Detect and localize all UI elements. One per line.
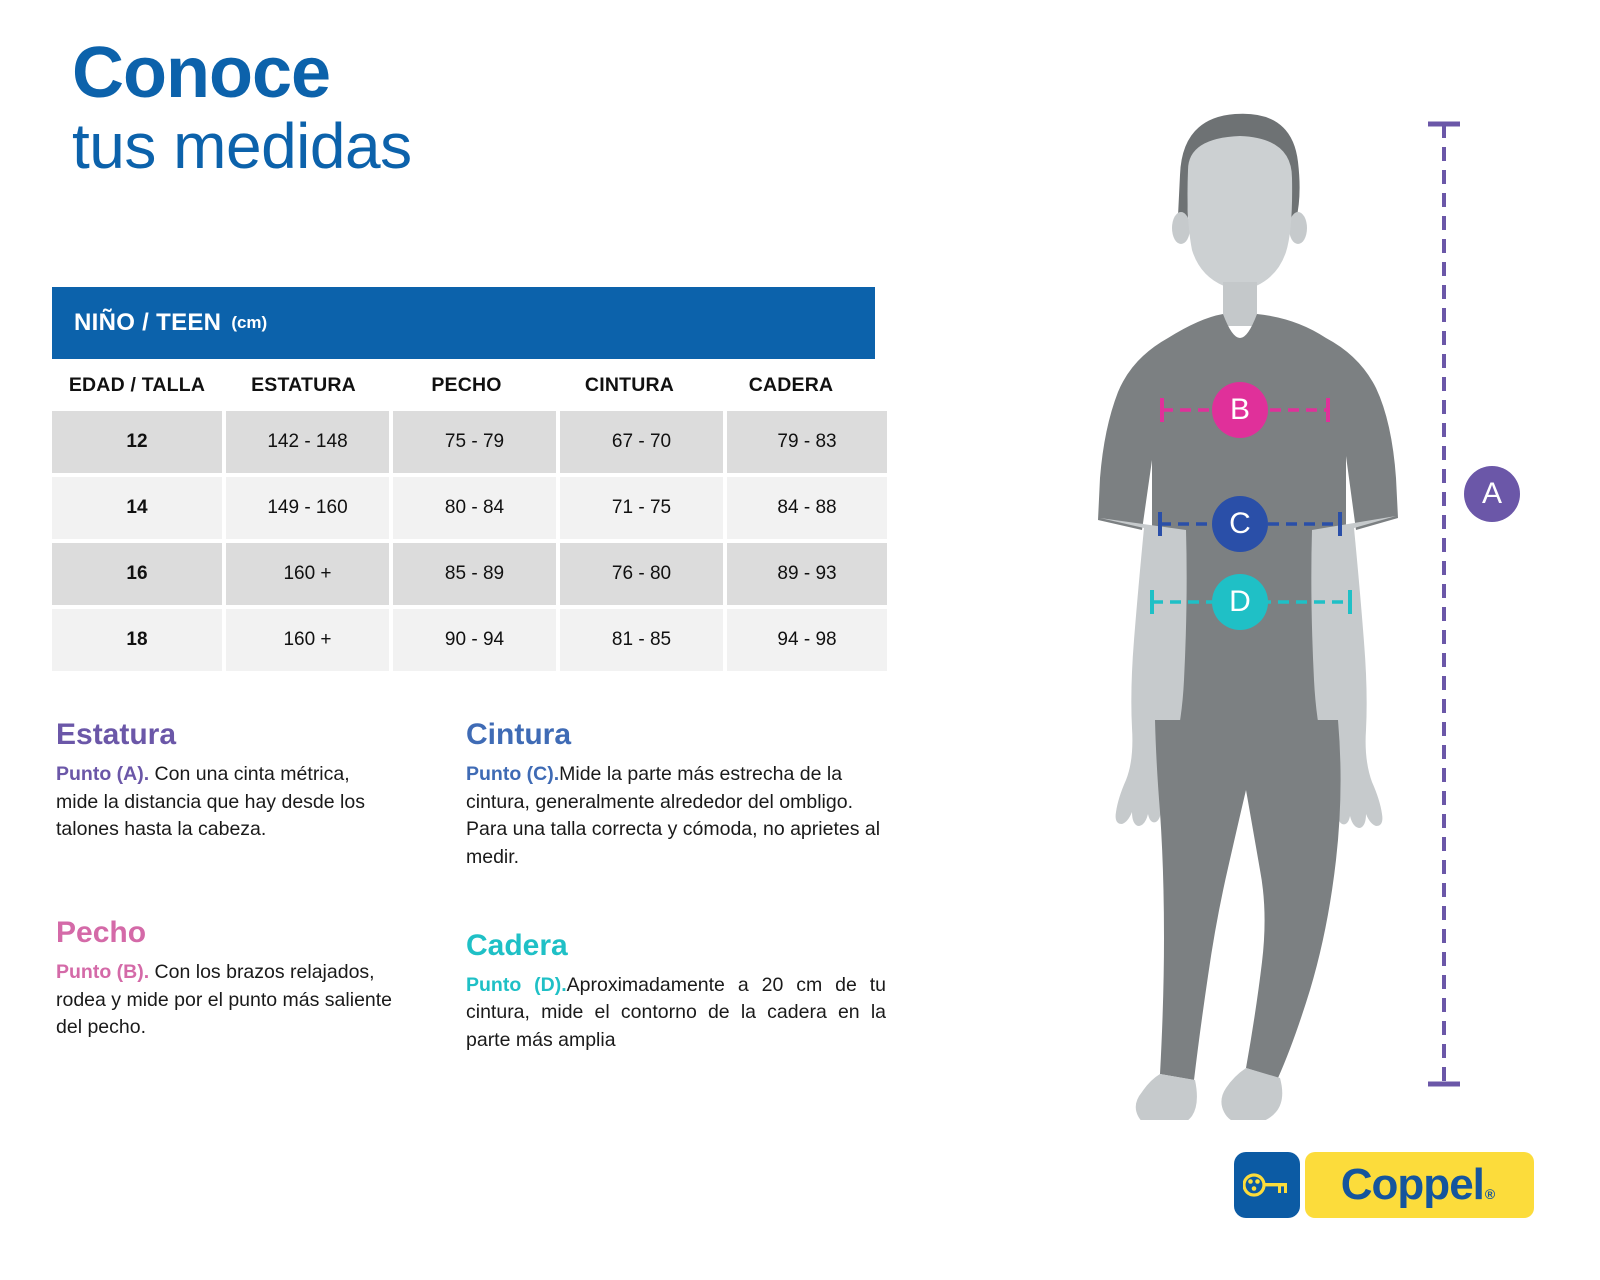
description-heading-cintura: Cintura [466, 718, 886, 751]
description-column-right: Cintura Punto (C).Mide la parte más estr… [466, 718, 886, 1095]
table-row: 18 160 + 90 - 94 81 - 85 94 - 98 [52, 609, 875, 671]
cell-cadera: 89 - 93 [727, 543, 887, 605]
marker-label-a: A [1482, 477, 1502, 511]
ear-left [1172, 212, 1190, 244]
title-line-2: tus medidas [72, 111, 412, 181]
cell-pecho: 80 - 84 [393, 477, 556, 539]
description-lead-cintura: Punto (C). [466, 763, 559, 785]
marker-label-d: D [1229, 585, 1251, 619]
marker-label-b: B [1230, 393, 1250, 427]
table-row: 16 160 + 85 - 89 76 - 80 89 - 93 [52, 543, 875, 605]
cell-estatura: 160 + [226, 543, 389, 605]
description-lead-cadera: Punto (D). [466, 974, 567, 996]
description-lead-estatura: Punto (A). [56, 763, 149, 785]
cell-cintura: 67 - 70 [560, 411, 723, 473]
body-figure-illustration: B C D A [1060, 100, 1580, 1120]
description-pecho: Pecho Punto (B). Con los brazos relajado… [56, 916, 396, 1042]
description-text-cintura: Punto (C).Mide la parte más estrecha de … [466, 761, 886, 872]
logo-key-badge [1234, 1152, 1300, 1218]
table-row: 12 142 - 148 75 - 79 67 - 70 79 - 83 [52, 411, 875, 473]
foot-back [1136, 1074, 1197, 1120]
description-cintura: Cintura Punto (C).Mide la parte más estr… [466, 718, 886, 872]
logo-brand-text: Coppel [1341, 1160, 1484, 1209]
cell-cadera: 94 - 98 [727, 609, 887, 671]
cell-cadera: 84 - 88 [727, 477, 887, 539]
description-text-cadera: Punto (D).Aproximadamente a 20 cm de tu … [466, 972, 886, 1055]
description-text-estatura: Punto (A). Con una cinta métrica, mide l… [56, 761, 396, 844]
title-line-1: Conoce [72, 38, 412, 109]
cell-pecho: 90 - 94 [393, 609, 556, 671]
coppel-logo: Coppel® [1234, 1152, 1534, 1218]
body-silhouette-svg [1060, 100, 1580, 1120]
ear-right [1289, 212, 1307, 244]
cell-cintura: 76 - 80 [560, 543, 723, 605]
marker-badge-d: D [1212, 574, 1268, 630]
cell-pecho: 75 - 79 [393, 411, 556, 473]
description-lead-pecho: Punto (B). [56, 961, 149, 983]
description-heading-pecho: Pecho [56, 916, 396, 949]
description-column-left: Estatura Punto (A). Con una cinta métric… [56, 718, 396, 1082]
cell-cintura: 71 - 75 [560, 477, 723, 539]
table-category-label: NIÑO / TEEN [74, 309, 221, 337]
cell-edad-talla: 12 [52, 411, 222, 473]
description-heading-estatura: Estatura [56, 718, 396, 751]
table-row: 14 149 - 160 80 - 84 71 - 75 84 - 88 [52, 477, 875, 539]
logo-wordmark: Coppel® [1341, 1163, 1494, 1207]
marker-label-c: C [1229, 507, 1251, 541]
column-header-cintura: CINTURA [548, 374, 711, 397]
cell-edad-talla: 16 [52, 543, 222, 605]
description-estatura: Estatura Punto (A). Con una cinta métric… [56, 718, 396, 844]
neck-shape [1223, 282, 1257, 326]
marker-badge-a: A [1464, 466, 1520, 522]
cell-estatura: 149 - 160 [226, 477, 389, 539]
column-header-pecho: PECHO [385, 374, 548, 397]
table-unit-label: (cm) [231, 313, 267, 333]
size-table: NIÑO / TEEN (cm) EDAD / TALLA ESTATURA P… [52, 287, 875, 675]
table-header-bar: NIÑO / TEEN (cm) [52, 287, 875, 359]
column-header-estatura: ESTATURA [222, 374, 385, 397]
cell-cadera: 79 - 83 [727, 411, 887, 473]
pants-shape [1155, 720, 1341, 1080]
cell-estatura: 142 - 148 [226, 411, 389, 473]
key-icon [1243, 1170, 1291, 1200]
page-title: Conoce tus medidas [72, 38, 412, 181]
cell-edad-talla: 18 [52, 609, 222, 671]
cell-edad-talla: 14 [52, 477, 222, 539]
cell-estatura: 160 + [226, 609, 389, 671]
column-header-edad-talla: EDAD / TALLA [52, 374, 222, 397]
table-column-headers: EDAD / TALLA ESTATURA PECHO CINTURA CADE… [52, 359, 875, 411]
description-text-pecho: Punto (B). Con los brazos relajados, rod… [56, 959, 396, 1042]
description-cadera: Cadera Punto (D).Aproximadamente a 20 cm… [466, 929, 886, 1055]
cell-cintura: 81 - 85 [560, 609, 723, 671]
cell-pecho: 85 - 89 [393, 543, 556, 605]
logo-registered-mark: ® [1485, 1186, 1494, 1202]
column-header-cadera: CADERA [711, 374, 871, 397]
marker-badge-c: C [1212, 496, 1268, 552]
logo-wordmark-badge: Coppel® [1305, 1152, 1534, 1218]
marker-badge-b: B [1212, 382, 1268, 438]
description-heading-cadera: Cadera [466, 929, 886, 962]
